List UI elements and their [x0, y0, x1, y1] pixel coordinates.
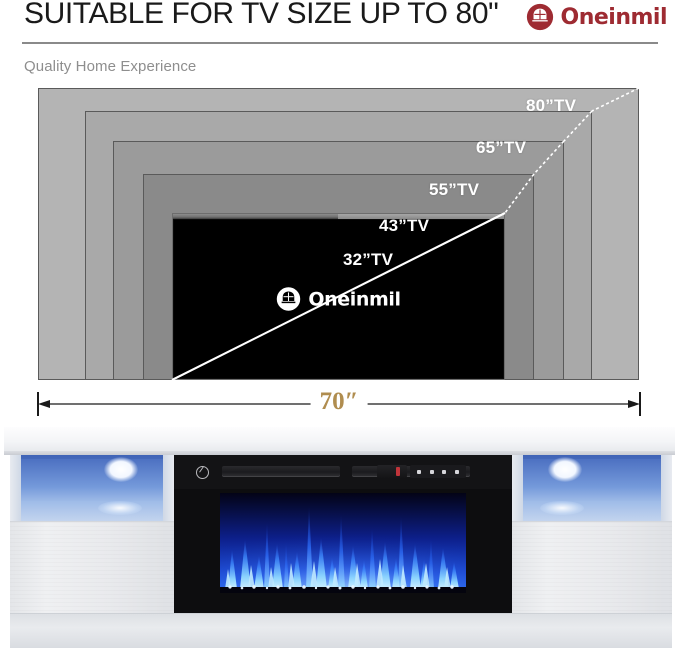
fireplace-vent — [222, 466, 340, 477]
tv-size-comparison-diagram: Oneinmil 80”TV 65”TV 55”TV 43”TV 32”TV — [38, 88, 639, 380]
shelf-side-left — [512, 455, 523, 521]
fireplace-display — [377, 465, 407, 478]
house-circle-logo-icon — [276, 287, 301, 312]
fireplace-button[interactable] — [455, 470, 459, 474]
led-reflection — [540, 501, 584, 515]
tv-stand-body — [4, 427, 675, 649]
led-shelf-right — [512, 455, 672, 521]
product-photo-fireplace-tv-stand — [0, 421, 679, 651]
led-reflection — [98, 501, 142, 515]
tv-unit-32: Oneinmil — [172, 213, 505, 380]
shelf-back-panel — [20, 459, 164, 505]
electric-fireplace-insert — [174, 455, 512, 613]
brand-logo: Oneinmil — [526, 3, 668, 31]
shelf-floor — [10, 501, 174, 521]
stand-top-surface — [4, 427, 675, 453]
red-led-indicator — [396, 467, 400, 476]
tv-size-label-32: 32”TV — [343, 250, 393, 270]
cabinet-drawer-left — [10, 521, 174, 614]
subtitle: Quality Home Experience — [24, 58, 196, 75]
brand-name: Oneinmil — [561, 5, 668, 30]
fireplace-button[interactable] — [417, 470, 421, 474]
width-dimension: 70″ — [36, 390, 642, 418]
blue-flame-graphic — [220, 493, 466, 593]
tv-size-label-80: 80”TV — [526, 96, 576, 116]
tv-size-label-43: 43”TV — [379, 216, 429, 236]
tv-screen: Oneinmil — [174, 220, 503, 378]
tv-size-label-65: 65”TV — [476, 138, 526, 158]
led-light-icon — [548, 457, 582, 482]
power-icon[interactable] — [196, 466, 209, 479]
page-title: SUITABLE FOR TV SIZE UP TO 80" — [24, 0, 498, 31]
fireplace-button-group[interactable] — [410, 465, 466, 478]
shelf-side-left — [10, 455, 21, 521]
led-light-icon — [104, 457, 138, 482]
led-shelf-left — [10, 455, 174, 521]
stand-plinth-base — [10, 613, 672, 648]
width-dimension-label: 70″ — [311, 388, 368, 416]
header-divider — [22, 42, 658, 44]
shelf-side-right — [661, 455, 672, 521]
house-circle-logo-icon — [526, 3, 554, 31]
tv-screen-brand-name: Oneinmil — [308, 288, 400, 310]
tv-screen-logo: Oneinmil — [174, 287, 503, 312]
fireplace-control-panel — [174, 455, 512, 489]
shelf-floor — [512, 501, 672, 521]
cabinet-drawer-right — [512, 521, 672, 614]
shelf-back-panel — [522, 459, 663, 505]
shelf-side-right — [163, 455, 174, 521]
fireplace-firebox — [220, 493, 466, 593]
fireplace-button[interactable] — [430, 470, 434, 474]
tv-size-label-55: 55”TV — [429, 180, 479, 200]
fireplace-button[interactable] — [442, 470, 446, 474]
page-header: SUITABLE FOR TV SIZE UP TO 80" Oneinmil — [0, 0, 679, 46]
